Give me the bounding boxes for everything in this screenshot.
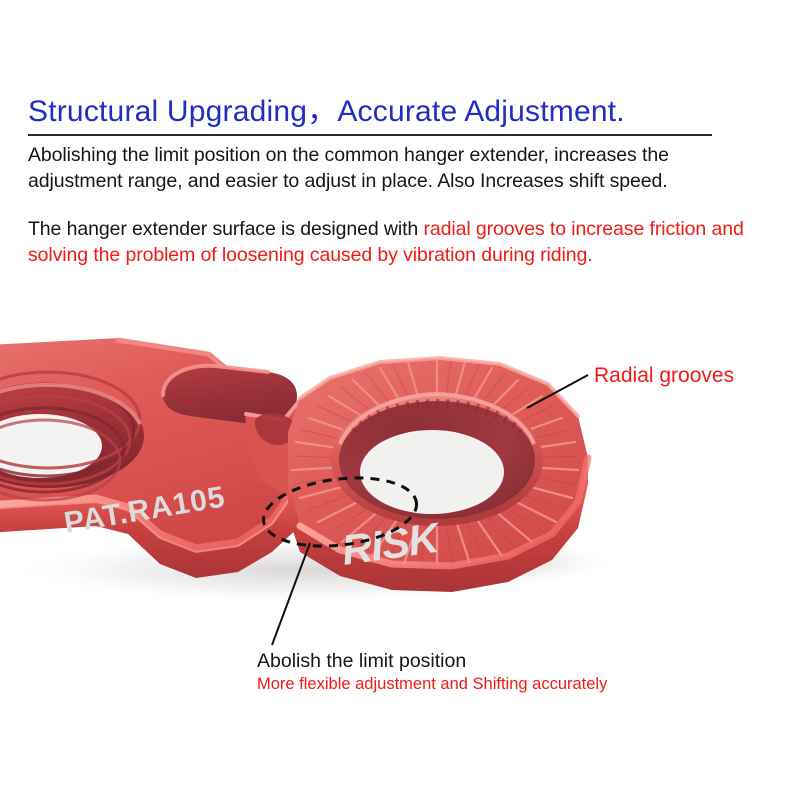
description-paragraph-1: Abolishing the limit position on the com… [28, 143, 752, 195]
callout-abolish-limit-position: Abolish the limit position More flexible… [257, 650, 687, 694]
callout-abolish-subtitle: More flexible adjustment and Shifting ac… [257, 674, 687, 694]
central-bore-through-hole [360, 430, 504, 514]
description-paragraph-2: The hanger extender surface is designed … [28, 217, 762, 269]
page-title: Structural Upgrading，Accurate Adjustment… [28, 96, 762, 128]
text-block: Structural Upgrading，Accurate Adjustment… [28, 96, 762, 269]
paragraph-2-lead-text: The hanger extender surface is designed … [28, 218, 424, 240]
infographic-page: Structural Upgrading，Accurate Adjustment… [0, 0, 800, 800]
title-underline-rule [28, 134, 712, 136]
callout-radial-grooves: Radial grooves [594, 364, 734, 388]
callout-abolish-title: Abolish the limit position [257, 650, 687, 674]
